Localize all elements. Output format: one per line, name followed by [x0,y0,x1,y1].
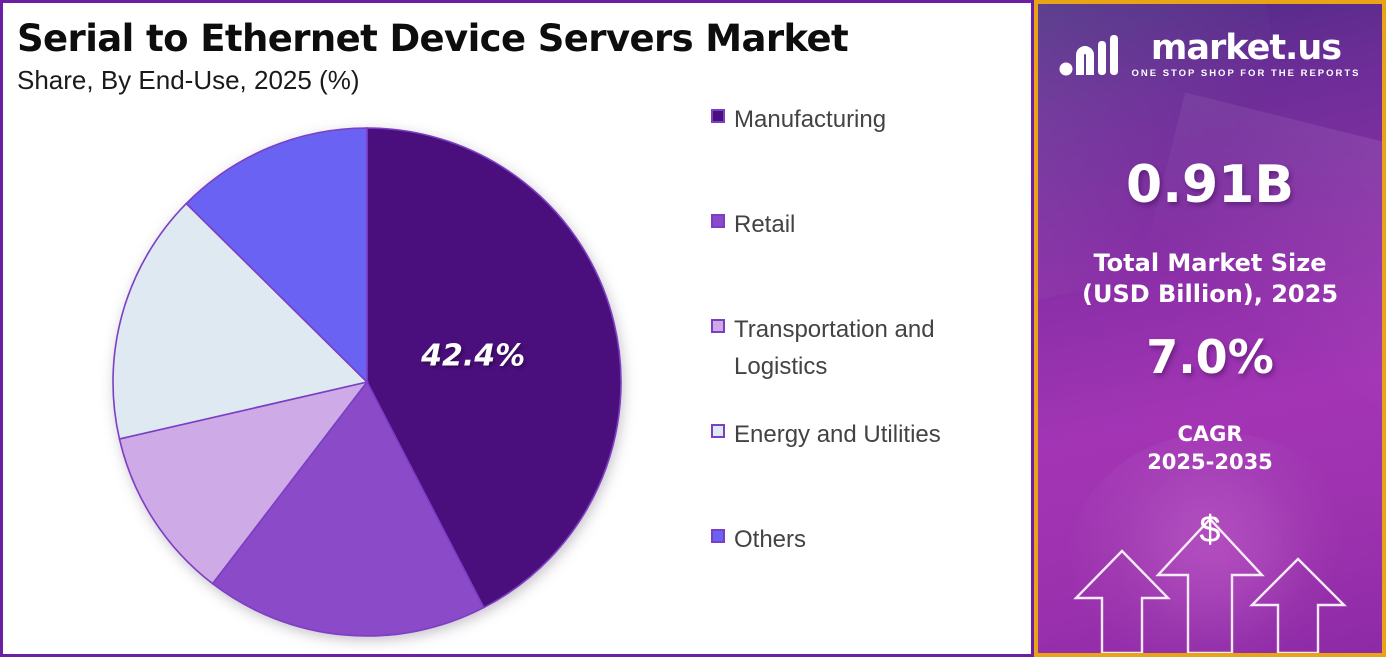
pie-slices [113,128,621,636]
arrow-right [1252,559,1344,653]
legend-swatch-icon [711,529,725,543]
cagr-caption: CAGR 2025-2035 [1038,420,1382,476]
legend-swatch-icon [711,109,725,123]
legend-item[interactable]: Manufacturing [711,101,1003,138]
arrow-center [1158,519,1262,653]
pie-chart: 42.4% [109,124,625,640]
logo-wordmark: market.us [1151,30,1341,66]
market-size-caption-line1: Total Market Size [1038,248,1382,279]
chart-subtitle: Share, By End-Use, 2025 (%) [17,65,917,95]
legend-item[interactable]: Transportation and Logistics [711,311,1003,385]
legend-item[interactable]: Retail [711,206,1003,243]
legend-swatch-icon [711,214,725,228]
legend-item-label: Retail [734,206,795,243]
legend-item-label: Manufacturing [734,101,886,138]
market-size-value: 0.91B [1038,156,1382,214]
stats-panel: market.us ONE STOP SHOP FOR THE REPORTS … [1034,0,1386,657]
legend-item-label: Others [734,521,806,558]
market-size-caption: Total Market Size (USD Billion), 2025 [1038,248,1382,310]
cagr-caption-line2: 2025-2035 [1038,448,1382,476]
legend-item[interactable]: Energy and Utilities [711,416,1003,453]
pie-slice-label: 42.4% [421,339,525,374]
legend-swatch-icon [711,424,725,438]
cagr-value: 7.0% [1038,331,1382,383]
logo-tagline: ONE STOP SHOP FOR THE REPORTS [1131,68,1360,79]
growth-arrows-icon [1060,513,1360,653]
market-size-caption-line2: (USD Billion), 2025 [1038,279,1382,310]
page-title: Serial to Ethernet Device Servers Market [17,17,917,61]
legend-item[interactable]: Others [711,521,1003,558]
chart-panel: Serial to Ethernet Device Servers Market… [0,0,1034,657]
legend-item-label: Energy and Utilities [734,416,941,453]
legend-item-label: Transportation and Logistics [734,311,1003,385]
chart-legend: ManufacturingRetailTransportation and Lo… [711,101,1011,571]
brand-logo: market.us ONE STOP SHOP FOR THE REPORTS [1038,30,1382,79]
title-block: Serial to Ethernet Device Servers Market… [17,17,917,95]
logo-text-block: market.us ONE STOP SHOP FOR THE REPORTS [1131,30,1360,79]
arrow-left [1076,551,1168,653]
infographic-root: Serial to Ethernet Device Servers Market… [0,0,1386,657]
legend-swatch-icon [711,319,725,333]
pie-svg [109,124,625,640]
market-us-logo-icon [1059,31,1121,79]
cagr-caption-line1: CAGR [1038,420,1382,448]
